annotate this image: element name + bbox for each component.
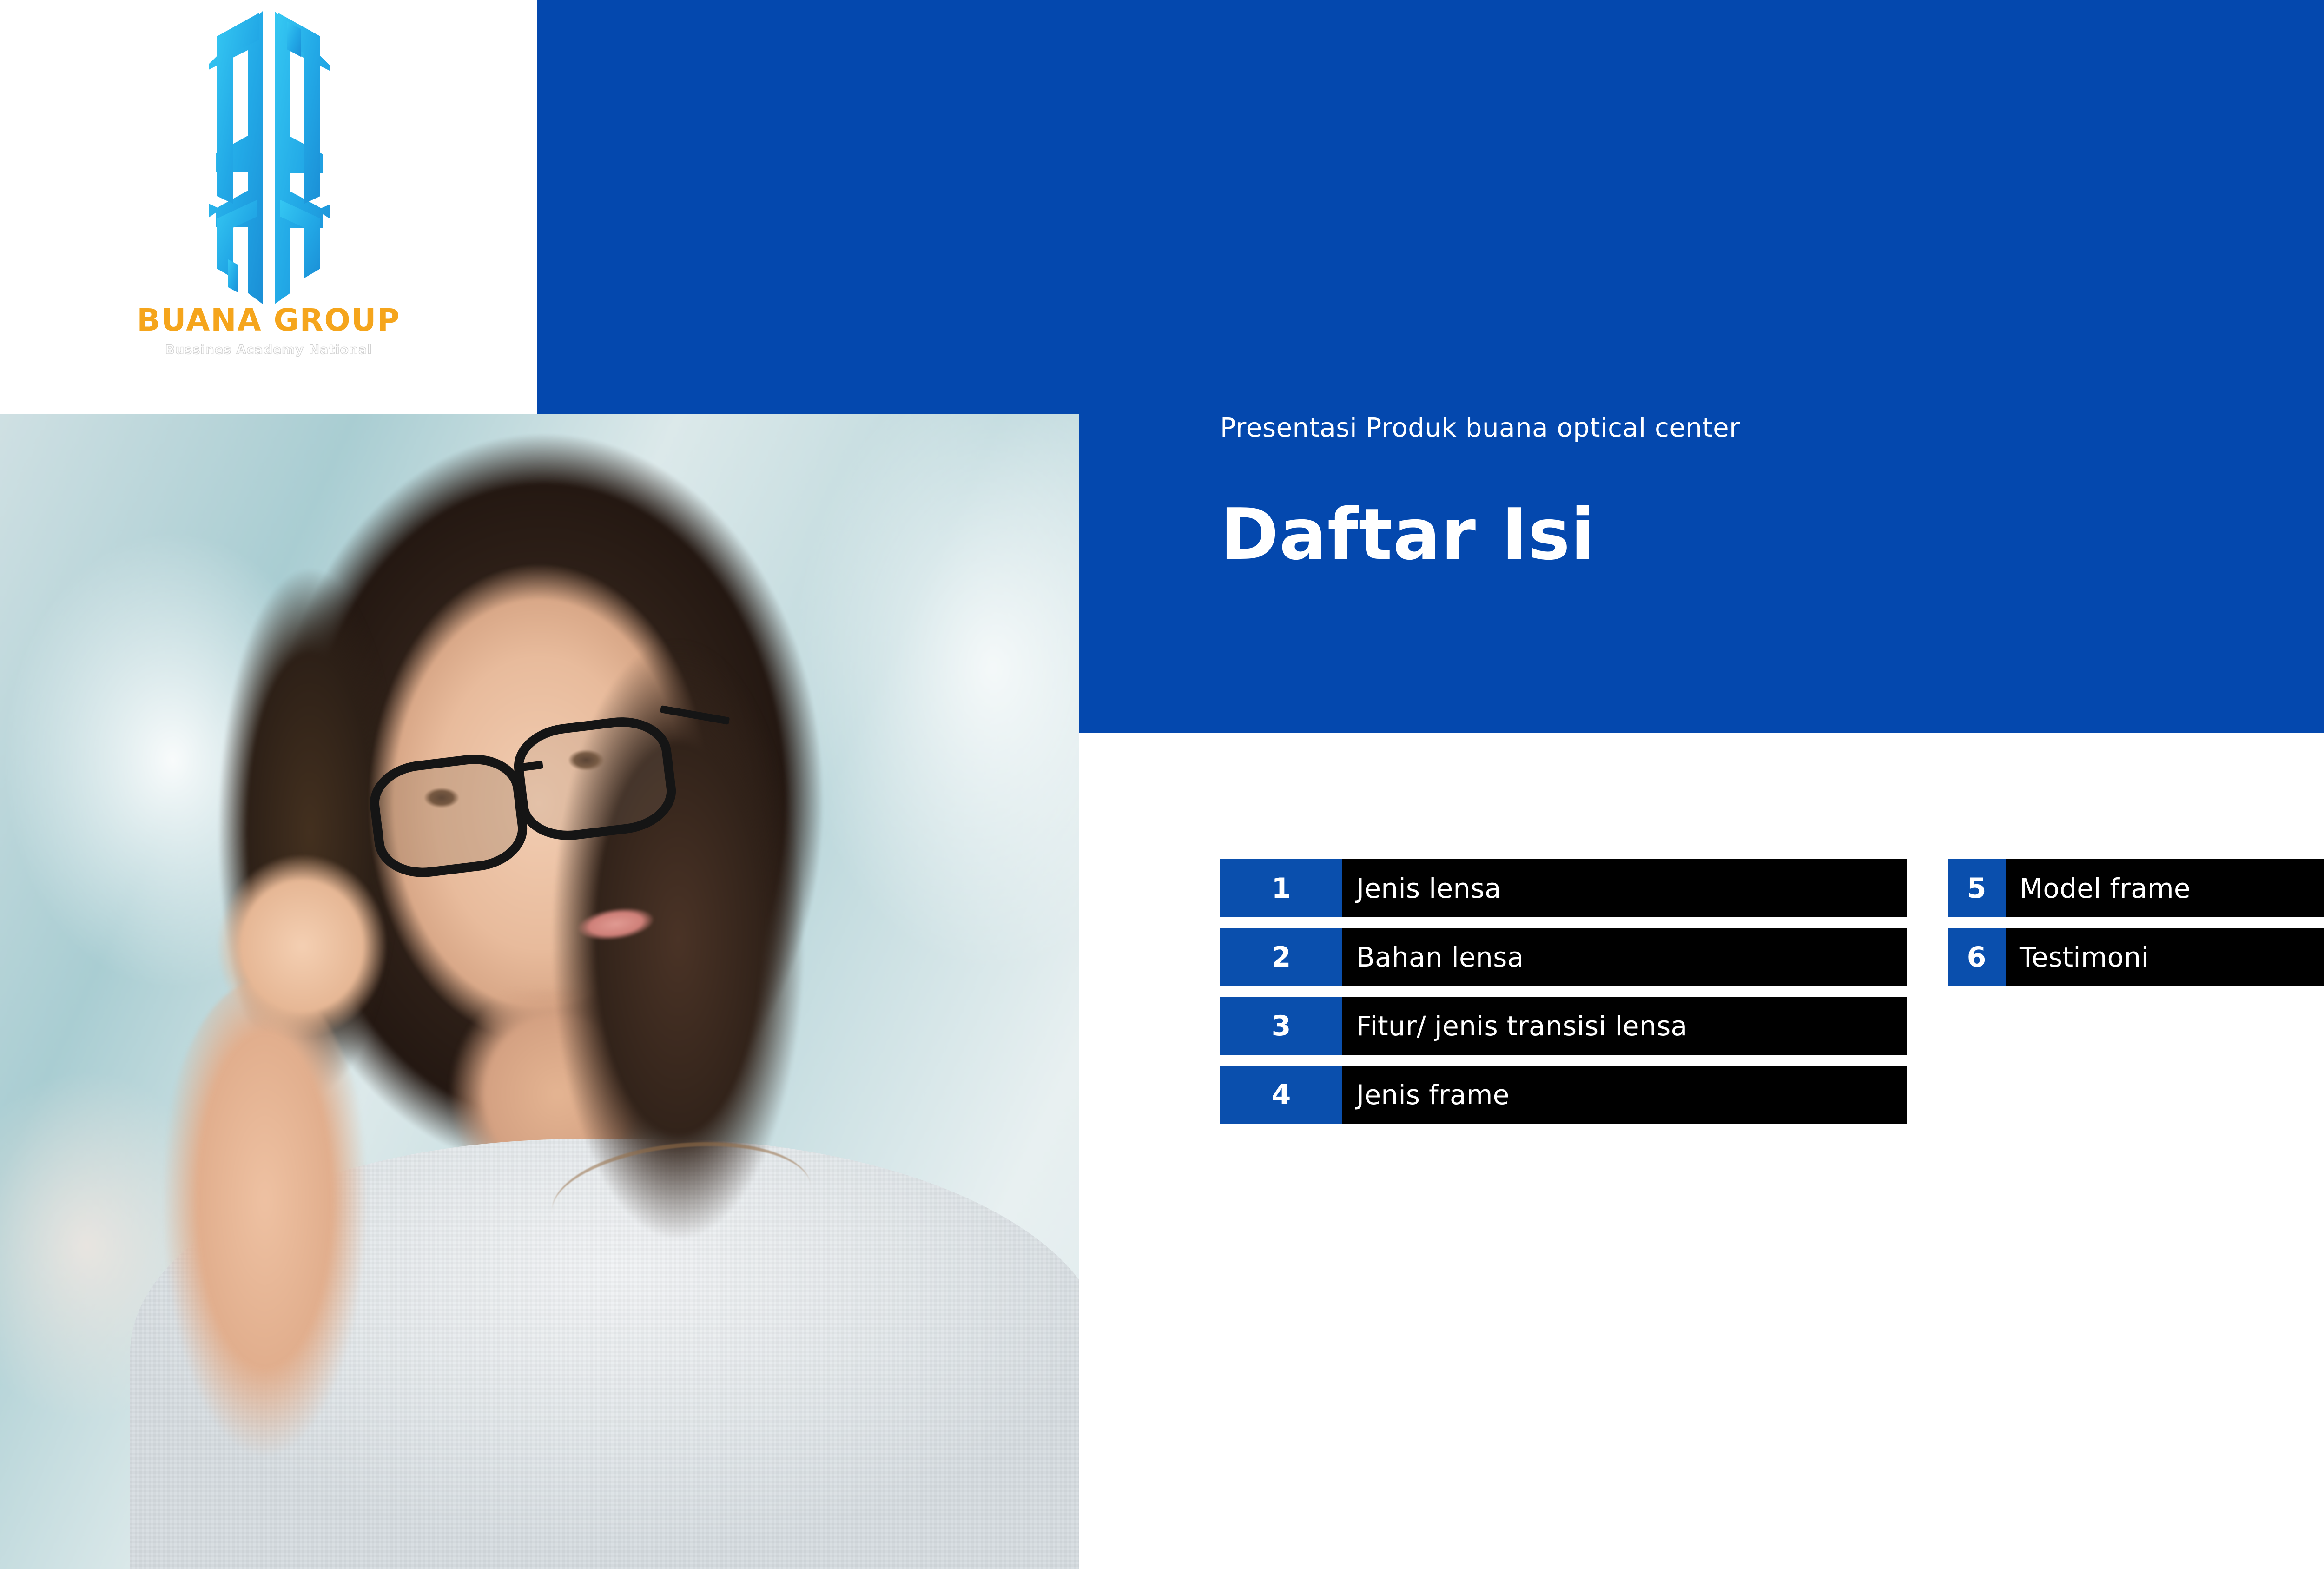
toc-item-label: Bahan lensa <box>1342 928 1907 986</box>
toc-left-column: 1 Jenis lensa 2 Bahan lensa 3 Fitur/ jen… <box>1220 859 1907 1134</box>
toc-item[interactable]: 3 Fitur/ jenis transisi lensa <box>1220 997 1907 1055</box>
toc-item-number: 5 <box>1948 859 2006 917</box>
logo-tagline: Bussines Academy National <box>165 343 372 357</box>
buana-monogram-icon <box>192 8 345 306</box>
toc-item-label: Fitur/ jenis transisi lensa <box>1342 997 1907 1055</box>
toc-item-number: 4 <box>1220 1066 1342 1124</box>
header-blue-band-left <box>537 0 1080 414</box>
toc-item[interactable]: 2 Bahan lensa <box>1220 928 1907 986</box>
toc-item-label: Model frame <box>2006 859 2324 917</box>
toc-item-number: 6 <box>1948 928 2006 986</box>
toc-item[interactable]: 1 Jenis lensa <box>1220 859 1907 917</box>
toc-right-column: 5 Model frame 6 Testimoni <box>1948 859 2324 997</box>
toc-item[interactable]: 6 Testimoni <box>1948 928 2324 986</box>
toc-item-number: 2 <box>1220 928 1342 986</box>
presentation-subtitle: Presentasi Produk buana optical center <box>1220 414 2324 443</box>
toc-item-label: Testimoni <box>2006 928 2324 986</box>
toc-item-label: Jenis lensa <box>1342 859 1907 917</box>
hero-photo <box>0 414 1079 1569</box>
toc-item-number: 1 <box>1220 859 1342 917</box>
logo-card: BUANA GROUP Bussines Academy National <box>0 0 537 414</box>
logo-wordmark: BUANA GROUP <box>137 302 400 338</box>
toc-item[interactable]: 4 Jenis frame <box>1220 1066 1907 1124</box>
toc-item-number: 3 <box>1220 997 1342 1055</box>
toc-item[interactable]: 5 Model frame <box>1948 859 2324 917</box>
toc-item-label: Jenis frame <box>1342 1066 1907 1124</box>
page-title: Daftar Isi <box>1220 497 2324 572</box>
